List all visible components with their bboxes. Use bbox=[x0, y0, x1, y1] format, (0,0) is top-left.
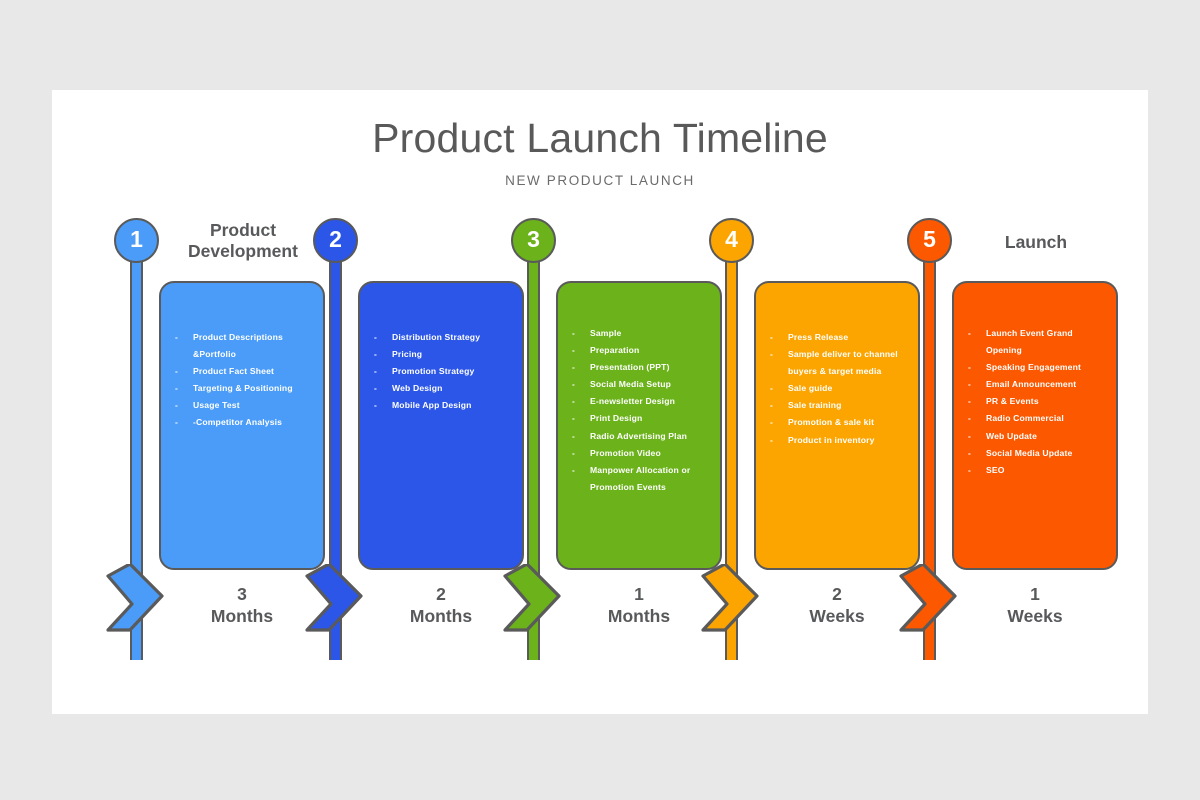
stage-task-item: Launch Event Grand Opening bbox=[960, 325, 1110, 359]
stage-task-item: Usage Test bbox=[167, 397, 317, 414]
stage-task-item: PR & Events bbox=[960, 393, 1110, 410]
stage-arrow-4 bbox=[701, 564, 763, 634]
stage-task-item: -Competitor Analysis bbox=[167, 414, 317, 431]
stage-arrow-5 bbox=[899, 564, 961, 634]
stage-number-label: 4 bbox=[725, 228, 738, 251]
stage-task-item: Sale training bbox=[762, 397, 912, 414]
stage-task-item: Mobile App Design bbox=[366, 397, 516, 414]
chevron-right-icon bbox=[899, 564, 961, 634]
stage-task-item: E-newsletter Design bbox=[564, 393, 714, 410]
stage-number-badge-1[interactable]: 1 bbox=[114, 218, 159, 263]
stage-task-item: Presentation (PPT) bbox=[564, 359, 714, 376]
stage-number-badge-2[interactable]: 2 bbox=[313, 218, 358, 263]
stage-task-item: Press Release bbox=[762, 329, 912, 346]
stage-duration-2: 2 Months bbox=[356, 583, 526, 628]
stage-task-item: Targeting & Positioning bbox=[167, 380, 317, 397]
slide-canvas: Product Launch Timeline NEW PRODUCT LAUN… bbox=[52, 90, 1148, 714]
stage-task-item: Email Announcement bbox=[960, 376, 1110, 393]
stage-task-item: Product Descriptions &Portfolio bbox=[167, 329, 317, 363]
stage-duration-5: 1 Weeks bbox=[950, 583, 1120, 628]
stage-task-list: SamplePreparationPresentation (PPT)Socia… bbox=[558, 283, 720, 496]
stage-number-badge-5[interactable]: 5 bbox=[907, 218, 952, 263]
chevron-right-icon bbox=[305, 564, 367, 634]
stage-task-list: Press ReleaseSample deliver to channel b… bbox=[756, 283, 918, 449]
stage-card-3[interactable]: SamplePreparationPresentation (PPT)Socia… bbox=[556, 281, 722, 570]
stage-number-badge-4[interactable]: 4 bbox=[709, 218, 754, 263]
stage-task-item: Manpower Allocation or Promotion Events bbox=[564, 462, 714, 496]
stage-number-label: 1 bbox=[130, 228, 143, 251]
stage-task-item: Social Media Update bbox=[960, 445, 1110, 462]
stage-task-item: Sample deliver to channel buyers & targe… bbox=[762, 346, 912, 380]
stage-task-item: Product Fact Sheet bbox=[167, 363, 317, 380]
stage-duration-3: 1 Months bbox=[554, 583, 724, 628]
stage-task-list: Distribution StrategyPricingPromotion St… bbox=[360, 283, 522, 414]
stage-task-item: Web Update bbox=[960, 428, 1110, 445]
stage-task-item: Sample bbox=[564, 325, 714, 342]
stage-task-item: Distribution Strategy bbox=[366, 329, 516, 346]
timeline-container: Product Development1Product Descriptions… bbox=[52, 90, 1148, 714]
stage-task-item: Promotion & sale kit bbox=[762, 414, 912, 431]
stage-card-4[interactable]: Press ReleaseSample deliver to channel b… bbox=[754, 281, 920, 570]
stage-number-label: 2 bbox=[329, 228, 342, 251]
stage-task-item: Print Design bbox=[564, 410, 714, 427]
stage-task-item: Radio Advertising Plan bbox=[564, 428, 714, 445]
stage-number-label: 5 bbox=[923, 228, 936, 251]
stage-task-item: Promotion Video bbox=[564, 445, 714, 462]
stage-task-item: Pricing bbox=[366, 346, 516, 363]
stage-task-item: Radio Commercial bbox=[960, 410, 1110, 427]
stage-task-item: Web Design bbox=[366, 380, 516, 397]
stage-card-5[interactable]: Launch Event Grand OpeningSpeaking Engag… bbox=[952, 281, 1118, 570]
stage-task-item: Sale guide bbox=[762, 380, 912, 397]
stage-arrow-2 bbox=[305, 564, 367, 634]
stage-arrow-3 bbox=[503, 564, 565, 634]
stage-task-item: Social Media Setup bbox=[564, 376, 714, 393]
chevron-right-icon bbox=[106, 564, 168, 634]
stage-arrow-1 bbox=[106, 564, 168, 634]
stage-task-list: Product Descriptions &PortfolioProduct F… bbox=[161, 283, 323, 432]
stage-task-list: Launch Event Grand OpeningSpeaking Engag… bbox=[954, 283, 1116, 479]
stage-card-2[interactable]: Distribution StrategyPricingPromotion St… bbox=[358, 281, 524, 570]
stage-card-1[interactable]: Product Descriptions &PortfolioProduct F… bbox=[159, 281, 325, 570]
stage-task-item: Speaking Engagement bbox=[960, 359, 1110, 376]
stage-duration-4: 2 Weeks bbox=[752, 583, 922, 628]
stage-task-item: SEO bbox=[960, 462, 1110, 479]
chevron-right-icon bbox=[503, 564, 565, 634]
stage-task-item: Preparation bbox=[564, 342, 714, 359]
stage-header-5: Launch bbox=[941, 232, 1131, 253]
stage-task-item: Product in inventory bbox=[762, 432, 912, 449]
stage-task-item: Promotion Strategy bbox=[366, 363, 516, 380]
stage-number-badge-3[interactable]: 3 bbox=[511, 218, 556, 263]
stage-header-1: Product Development bbox=[148, 220, 338, 262]
stage-number-label: 3 bbox=[527, 228, 540, 251]
chevron-right-icon bbox=[701, 564, 763, 634]
stage-duration-1: 3 Months bbox=[157, 583, 327, 628]
